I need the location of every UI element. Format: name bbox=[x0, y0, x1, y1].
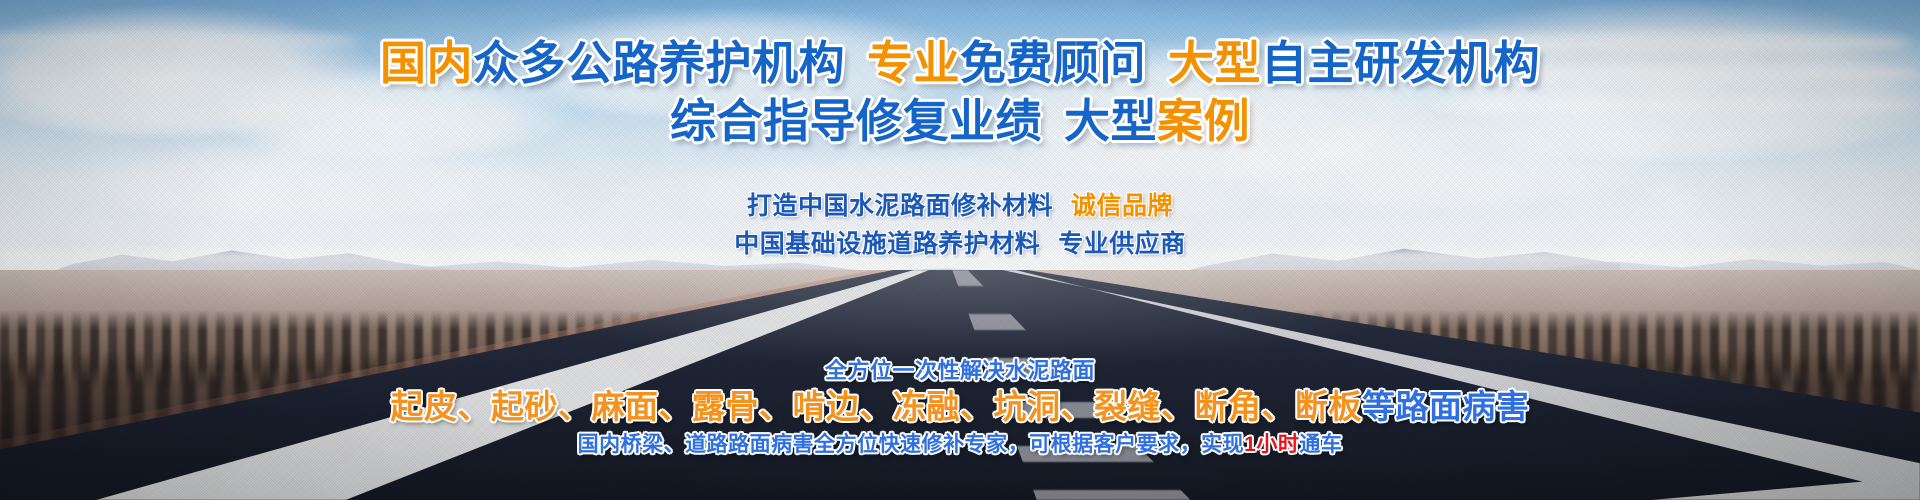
tagline-seg-trusted-brand: 诚信品牌 bbox=[1071, 192, 1173, 220]
headline-seg-rd-org: 自主研发机构 bbox=[1261, 37, 1540, 89]
headline-seg-free-consult: 免费顾问 bbox=[960, 37, 1146, 89]
bottom-line-3: 国内桥梁、道路路面病害全方位快速修补专家，可根据客户要求，实现1小时通车 bbox=[0, 432, 1920, 458]
bottom-seg-expert: 国内桥梁、道路路面病害全方位快速修补专家，可根据客户要求，实现 bbox=[578, 433, 1245, 456]
headline-line-2: 综合指导修复业绩大型案例 bbox=[0, 96, 1920, 148]
bottom-seg-one-hour: 1小时 bbox=[1244, 433, 1299, 456]
tagline-block: 打造中国水泥路面修补材料诚信品牌 中国基础设施道路养护材料专业供应商 bbox=[0, 188, 1920, 263]
banner-content: 国内众多公路养护机构专业免费顾问大型自主研发机构 综合指导修复业绩大型案例 打造… bbox=[0, 0, 1920, 500]
tagline-seg-material: 打造中国水泥路面修补材料 bbox=[747, 192, 1053, 220]
headline-seg-domestic: 国内 bbox=[380, 37, 473, 89]
headline-seg-guidance: 综合指导修复业绩 bbox=[670, 95, 1042, 147]
headline-seg-large-scale: 大型 bbox=[1168, 37, 1261, 89]
bottom-seg-open-traffic: 通车 bbox=[1299, 433, 1342, 456]
bottom-block: 全方位一次性解决水泥路面 起皮、起砂、麻面、露骨、啃边、冻融、坑洞、裂缝、断角、… bbox=[0, 358, 1920, 458]
headline-seg-large: 大型 bbox=[1064, 95, 1157, 147]
tagline-line-2: 中国基础设施道路养护材料专业供应商 bbox=[0, 226, 1920, 264]
headline-seg-professional: 专业 bbox=[867, 37, 960, 89]
tagline-seg-infrastructure: 中国基础设施道路养护材料 bbox=[734, 230, 1040, 258]
headline-seg-agencies: 众多公路养护机构 bbox=[473, 37, 845, 89]
headline-seg-case: 案例 bbox=[1157, 95, 1250, 147]
promotional-banner: 国内众多公路养护机构专业免费顾问大型自主研发机构 综合指导修复业绩大型案例 打造… bbox=[0, 0, 1920, 500]
headline-line-1: 国内众多公路养护机构专业免费顾问大型自主研发机构 bbox=[0, 38, 1920, 90]
tagline-seg-supplier: 专业供应商 bbox=[1058, 230, 1186, 258]
bottom-line-1: 全方位一次性解决水泥路面 bbox=[0, 358, 1920, 385]
bottom-seg-defects: 起皮、起砂、麻面、露骨、啃边、冻融、坑洞、裂缝、断角、断板 bbox=[391, 388, 1363, 425]
bottom-seg-etc-defects: 等路面病害 bbox=[1362, 388, 1530, 425]
tagline-line-1: 打造中国水泥路面修补材料诚信品牌 bbox=[0, 188, 1920, 226]
bottom-line-2: 起皮、起砂、麻面、露骨、啃边、冻融、坑洞、裂缝、断角、断板等路面病害 bbox=[0, 387, 1920, 427]
headline: 国内众多公路养护机构专业免费顾问大型自主研发机构 综合指导修复业绩大型案例 bbox=[0, 38, 1920, 147]
bottom-seg-allround: 全方位一次性解决水泥路面 bbox=[825, 358, 1095, 383]
